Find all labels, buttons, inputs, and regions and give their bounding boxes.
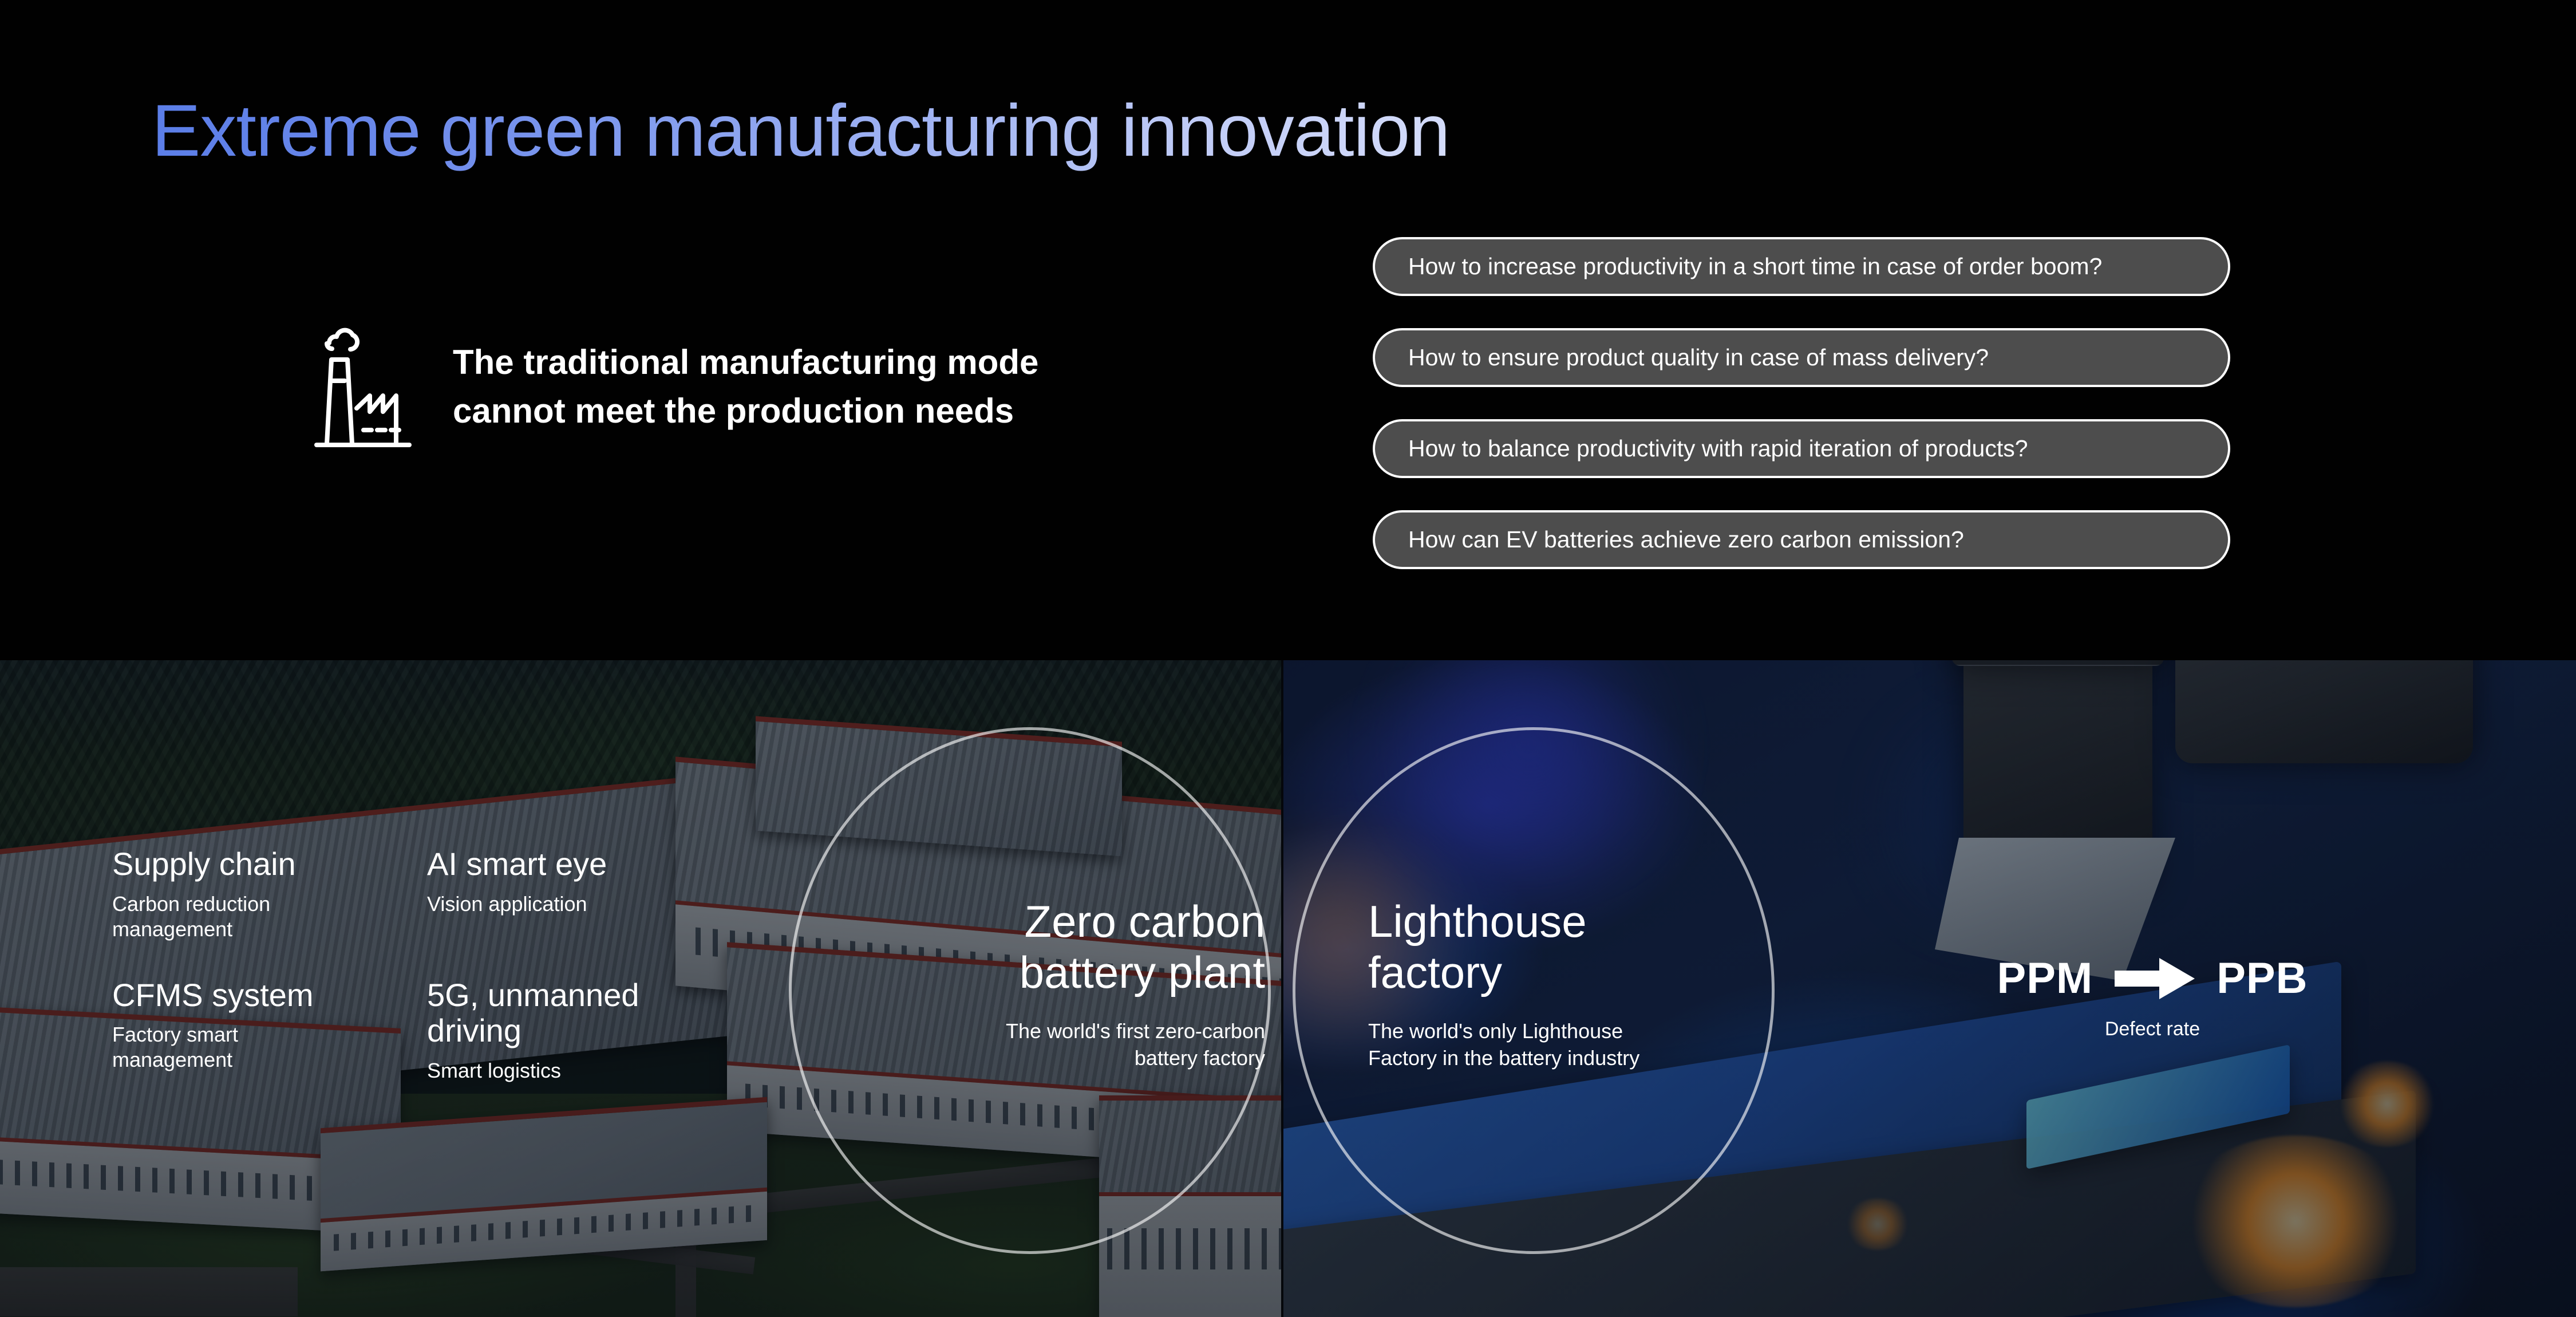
feature-5g-unmanned-driving-subtitle: Smart logistics — [427, 1058, 730, 1083]
question-pill-3[interactable]: How to balance productivity with rapid i… — [1373, 419, 2230, 478]
highlight-zero-carbon-battery-plant: Zero carbon battery plant The world's fi… — [784, 896, 1265, 1072]
feature-cfms-system-title: CFMS system — [112, 977, 427, 1014]
photo-divider — [1281, 660, 1283, 1317]
highlight-zero-carbon-subtitle: The world's first zero-carbon battery fa… — [784, 1018, 1265, 1072]
question-pill-3-label: How to balance productivity with rapid i… — [1408, 435, 2028, 462]
highlight-lighthouse-subtitle: The world's only Lighthouse Factory in t… — [1368, 1018, 1849, 1072]
feature-cfms-system-subtitle: Factory smart management — [112, 1022, 427, 1072]
highlight-lighthouse-factory: Lighthouse factory The world's only Ligh… — [1368, 896, 1849, 1072]
question-pill-2[interactable]: How to ensure product quality in case of… — [1373, 328, 2230, 387]
question-pill-2-label: How to ensure product quality in case of… — [1408, 344, 1989, 371]
feature-5g-unmanned-driving: 5G, unmanned driving Smart logistics — [427, 977, 730, 1083]
page-title: Extreme green manufacturing innovation — [152, 89, 1449, 173]
feature-cfms-system: CFMS system Factory smart management — [112, 977, 427, 1083]
defect-rate-to: PPB — [2217, 953, 2308, 1003]
feature-ai-smart-eye-title: AI smart eye — [427, 846, 730, 882]
question-pill-list: How to increase productivity in a short … — [1373, 237, 2230, 569]
highlight-zero-carbon-title: Zero carbon battery plant — [784, 896, 1265, 998]
statement-line-1: The traditional manufacturing mode — [453, 338, 1038, 387]
statement-line-2: cannot meet the production needs — [453, 387, 1038, 435]
defect-rate-row: PPM PPB — [1918, 953, 2387, 1003]
top-section: Extreme green manufacturing innovation T… — [0, 0, 2576, 660]
feature-ai-smart-eye-subtitle: Vision application — [427, 892, 730, 917]
statement-text: The traditional manufacturing mode canno… — [453, 338, 1038, 435]
feature-supply-chain: Supply chain Carbon reduction management — [112, 846, 427, 942]
feature-grid: Supply chain Carbon reduction management… — [112, 846, 730, 1083]
highlight-lighthouse-title: Lighthouse factory — [1368, 896, 1849, 998]
feature-ai-smart-eye: AI smart eye Vision application — [427, 846, 730, 942]
statement-block: The traditional manufacturing mode canno… — [312, 318, 1038, 455]
feature-supply-chain-title: Supply chain — [112, 846, 427, 882]
defect-rate-metric: PPM PPB Defect rate — [1918, 953, 2387, 1040]
question-pill-4-label: How can EV batteries achieve zero carbon… — [1408, 526, 1964, 553]
feature-5g-unmanned-driving-title: 5G, unmanned driving — [427, 977, 730, 1049]
slide-root: Extreme green manufacturing innovation T… — [0, 0, 2576, 1317]
feature-supply-chain-subtitle: Carbon reduction management — [112, 892, 427, 942]
factory-icon — [312, 318, 414, 455]
defect-rate-caption: Defect rate — [1918, 1018, 2387, 1040]
arrow-right-icon — [2115, 958, 2195, 999]
defect-rate-from: PPM — [1997, 953, 2093, 1003]
question-pill-1[interactable]: How to increase productivity in a short … — [1373, 237, 2230, 296]
question-pill-4[interactable]: How can EV batteries achieve zero carbon… — [1373, 510, 2230, 569]
question-pill-1-label: How to increase productivity in a short … — [1408, 253, 2102, 280]
